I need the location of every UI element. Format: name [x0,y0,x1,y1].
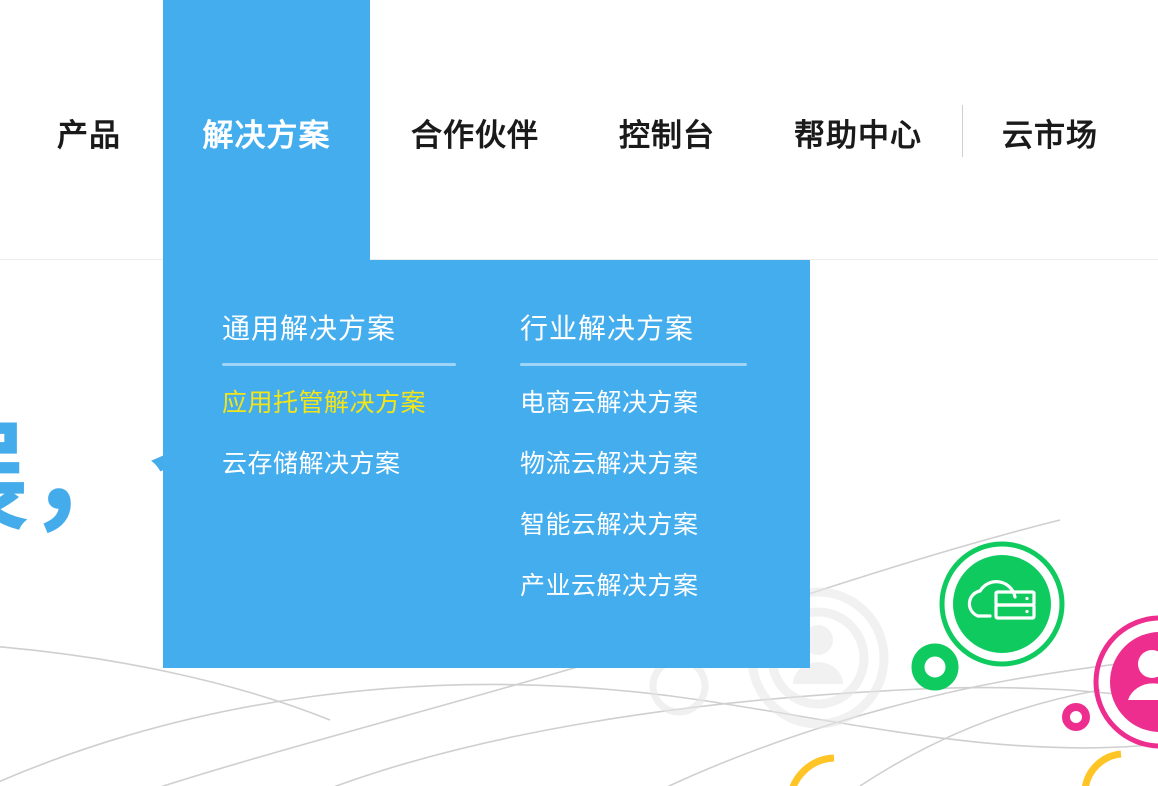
nav-item-label: 产品 [57,110,121,155]
dropdown-link-list: 应用托管解决方案云存储解决方案 [222,390,458,476]
page-root: 同拓展，合作共赢。 — 京东云打造互联网＋云生态 — 产品解决方案合作伙伴控制台… [0,0,1158,786]
nav-item-marketplace[interactable]: 云市场 [983,0,1117,260]
dropdown-column-divider [222,363,456,366]
pink-donut-small [1066,707,1086,727]
dropdown-column-industry: 行业解决方案电商云解决方案物流云解决方案智能云解决方案产业云解决方案 [520,260,752,634]
nav-item-label: 合作伙伴 [411,110,539,155]
dropdown-link-ecommerce-cloud[interactable]: 电商云解决方案 [520,390,752,415]
solutions-dropdown-panel: 通用解决方案应用托管解决方案云存储解决方案行业解决方案电商云解决方案物流云解决方… [163,260,810,668]
dropdown-link-industrial-cloud[interactable]: 产业云解决方案 [520,573,752,598]
dropdown-link-app-hosting[interactable]: 应用托管解决方案 [222,390,458,415]
nav-item-products[interactable]: 产品 [25,0,153,260]
nav-item-partners[interactable]: 合作伙伴 [382,0,568,260]
nav-item-console[interactable]: 控制台 [600,0,734,260]
pink-user-badge [1096,618,1158,746]
nav-separator [962,105,963,157]
nav-item-label: 控制台 [619,110,715,155]
nav-item-solutions[interactable]: 解决方案 [163,0,370,260]
dropdown-column-divider [520,363,747,366]
dropdown-column-general: 通用解决方案应用托管解决方案云存储解决方案 [222,260,458,512]
dropdown-link-intelligent-cloud[interactable]: 智能云解决方案 [520,512,752,537]
top-navigation-bar: 产品解决方案合作伙伴控制台帮助中心云市场 [0,0,1158,260]
nav-item-label: 帮助中心 [794,110,922,155]
dropdown-link-cloud-storage[interactable]: 云存储解决方案 [222,451,458,476]
green-cloud-server-badge [942,544,1062,664]
dropdown-column-title: 通用解决方案 [222,312,458,346]
nav-item-help[interactable]: 帮助中心 [765,0,951,260]
yellow-arc [790,754,1121,786]
nav-item-list: 产品解决方案合作伙伴控制台帮助中心云市场 [0,0,1158,260]
dropdown-link-logistics-cloud[interactable]: 物流云解决方案 [520,451,752,476]
nav-item-label: 解决方案 [203,110,331,155]
dropdown-link-list: 电商云解决方案物流云解决方案智能云解决方案产业云解决方案 [520,390,752,598]
green-donut-small [918,650,952,684]
nav-item-label: 云市场 [1002,110,1098,155]
dropdown-column-title: 行业解决方案 [520,312,752,346]
